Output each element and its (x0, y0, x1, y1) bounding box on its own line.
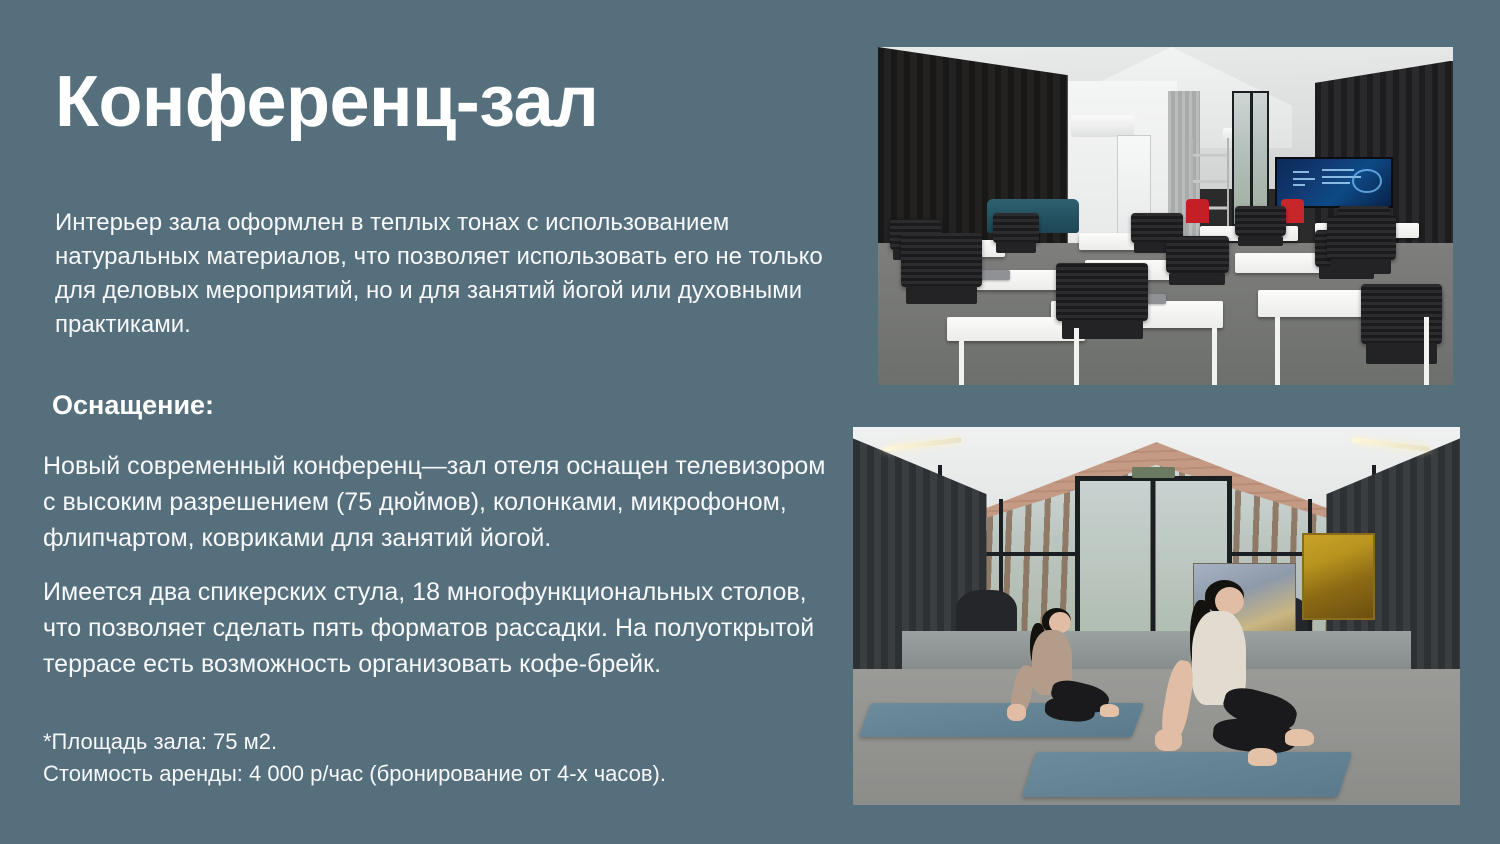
text-column: Конференц-зал Интерьер зала оформлен в т… (0, 0, 860, 844)
chair (1056, 263, 1148, 320)
yoga-studio-photo (853, 427, 1460, 805)
chair (1361, 284, 1442, 345)
equipment-paragraph: Новый современный конференц—зал отеля ос… (43, 448, 843, 556)
footnote-block: *Площадь зала: 75 м2. Стоимость аренды: … (43, 726, 843, 790)
intro-paragraph: Интерьер зала оформлен в теплых тонах с … (55, 206, 845, 342)
person-yoga-front (1120, 578, 1326, 793)
footnote-area-line: *Площадь зала: 75 м2. (43, 726, 843, 758)
chair (901, 233, 982, 287)
presentation-slide: Конференц-зал Интерьер зала оформлен в т… (0, 0, 1500, 844)
chair (993, 213, 1039, 243)
conference-room-photo (878, 47, 1453, 385)
red-chair (1186, 199, 1209, 223)
chair (1327, 216, 1396, 260)
seating-paragraph: Имеется два спикерских стула, 18 многофу… (43, 574, 843, 682)
page-title: Конференц-зал (55, 66, 598, 138)
air-conditioner-icon (1071, 115, 1134, 137)
chair (1235, 206, 1287, 236)
person-yoga-back (987, 605, 1133, 756)
exit-sign (1132, 467, 1174, 478)
chair (1166, 236, 1229, 273)
equipment-section-heading: Оснащение: (52, 390, 214, 421)
footnote-price-line: Стоимость аренды: 4 000 р/час (бронирова… (43, 758, 843, 790)
